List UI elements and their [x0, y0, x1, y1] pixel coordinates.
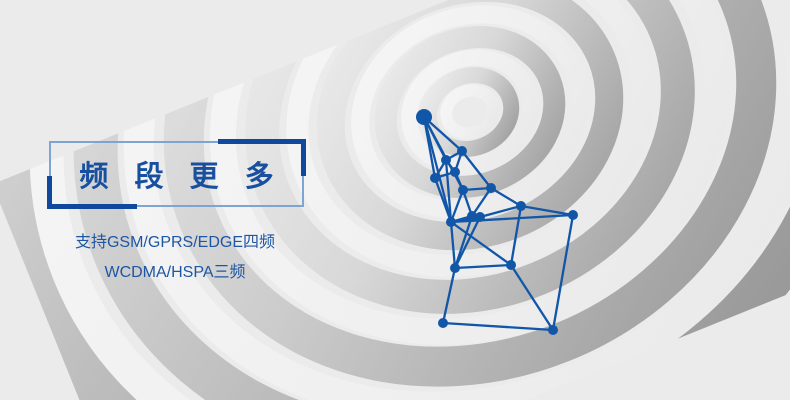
- network-edge: [480, 206, 521, 217]
- network-node: [450, 263, 460, 273]
- network-edge: [451, 190, 463, 222]
- text-block: 频 段 更 多 支持GSM/GPRS/EDGE四频 WCDMA/HSPA三频: [0, 0, 350, 400]
- network-node: [506, 260, 516, 270]
- network-edge: [511, 265, 553, 330]
- network-node: [450, 167, 460, 177]
- network-node: [438, 318, 448, 328]
- network-node: [548, 325, 558, 335]
- network-edge: [521, 206, 573, 215]
- network-edge: [443, 323, 553, 330]
- network-node: [416, 109, 432, 125]
- network-node: [568, 210, 578, 220]
- network-node: [441, 155, 451, 165]
- network-edge: [553, 215, 573, 330]
- network-edge: [511, 206, 521, 265]
- network-node: [457, 146, 467, 156]
- banner-root: 频 段 更 多 支持GSM/GPRS/EDGE四频 WCDMA/HSPA三频: [0, 0, 790, 400]
- network-edge: [491, 188, 521, 206]
- network-node: [516, 201, 526, 211]
- network-node: [475, 212, 485, 222]
- network-edge: [455, 217, 480, 268]
- network-node: [430, 173, 440, 183]
- network-node: [458, 185, 468, 195]
- subtitle-line-1: 支持GSM/GPRS/EDGE四频: [0, 228, 350, 252]
- subtitle-line-2: WCDMA/HSPA三频: [0, 258, 350, 282]
- network-node: [486, 183, 496, 193]
- network-edge: [462, 151, 491, 188]
- network-edge: [455, 216, 472, 268]
- network-edge: [443, 268, 455, 323]
- network-nodes: [416, 109, 578, 335]
- page-title: 频 段 更 多: [49, 141, 304, 207]
- network-edge: [455, 265, 511, 268]
- network-node: [446, 217, 456, 227]
- network-edge: [472, 188, 491, 216]
- network-edge: [451, 222, 455, 268]
